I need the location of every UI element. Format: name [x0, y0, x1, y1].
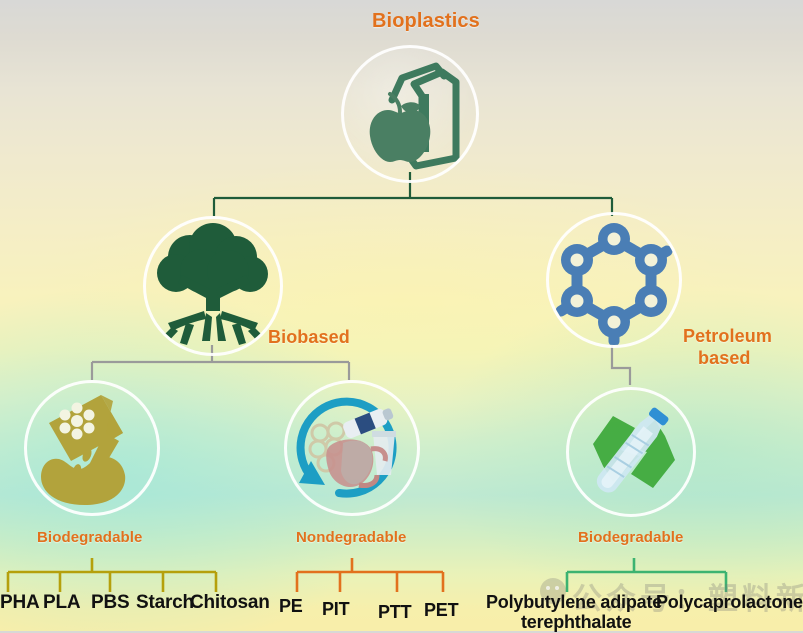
- tree-icon: [146, 219, 280, 353]
- leaf-ptt: PTT: [378, 602, 411, 623]
- leaf-pla: PLA: [43, 592, 80, 614]
- recycle-bottle-icon: [569, 390, 693, 514]
- recycling-waste-icon: [287, 383, 417, 513]
- biobased-node-circle[interactable]: [143, 216, 283, 356]
- petroleum-based-label-line2: based: [698, 348, 751, 369]
- root-label: Bioplastics: [372, 10, 480, 33]
- biodegradable-biobased-label: Biodegradable: [37, 529, 143, 546]
- starch-pouring-icon: [27, 383, 157, 513]
- apple-bag-icon: [344, 48, 476, 180]
- leaf-polycaprolactone: Polycaprolactone: [656, 592, 803, 613]
- biodegradable-petroleum-node-circle[interactable]: [566, 387, 696, 517]
- nondegradable-node-circle[interactable]: [284, 380, 420, 516]
- petroleum-based-label-line1: Petroleum: [683, 326, 772, 347]
- leaf-pe: PE: [279, 596, 303, 617]
- petroleum-based-node-circle[interactable]: [546, 212, 682, 348]
- leaf-pbat-line2: terephthalate: [521, 612, 631, 633]
- leaf-starch: Starch: [136, 592, 194, 614]
- leaf-pbs: PBS: [91, 592, 129, 614]
- benzene-ring-icon: [549, 215, 679, 345]
- biodegradable-petroleum-label: Biodegradable: [578, 529, 684, 546]
- nondegradable-label: Nondegradable: [296, 529, 406, 546]
- root-node-circle[interactable]: [341, 45, 479, 183]
- biodegradable-biobased-node-circle[interactable]: [24, 380, 160, 516]
- leaf-pbat-line1: Polybutylene adipate: [486, 592, 662, 613]
- biobased-label: Biobased: [268, 327, 350, 348]
- leaf-pha: PHA: [0, 592, 40, 614]
- leaf-pet: PET: [424, 600, 458, 621]
- leaf-pit: PIT: [322, 599, 349, 620]
- leaf-chitosan: Chitosan: [190, 592, 270, 614]
